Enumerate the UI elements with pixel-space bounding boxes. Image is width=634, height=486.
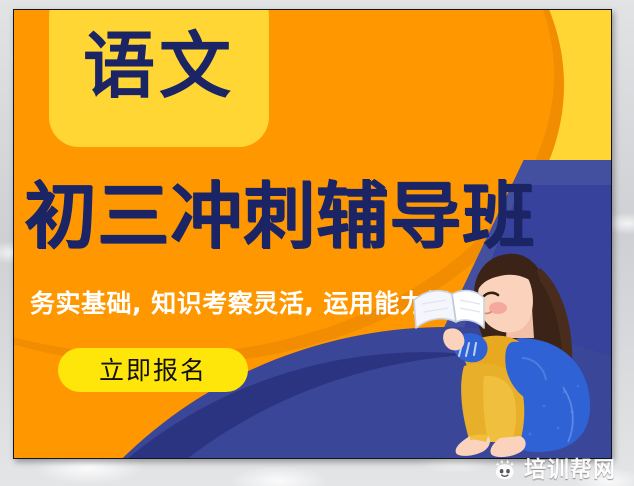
watermark-label: 培训帮网	[524, 459, 616, 483]
subject-badge-label: 语文	[49, 22, 269, 110]
course-promo-banner: 语文 初三冲刺辅导班 务实基础, 知识考察灵活, 运用能力提升 立即报名	[13, 9, 612, 459]
banner-subtitle: 务实基础, 知识考察灵活, 运用能力提升	[30, 288, 476, 320]
sun-face-logo-icon	[492, 457, 518, 485]
enroll-now-button[interactable]: 立即报名	[58, 348, 248, 392]
girl-reading-book-illustration	[412, 246, 612, 459]
site-watermark: 培训帮网	[492, 457, 616, 485]
enroll-now-button-label: 立即报名	[99, 358, 207, 383]
subject-badge: 语文	[49, 9, 269, 147]
